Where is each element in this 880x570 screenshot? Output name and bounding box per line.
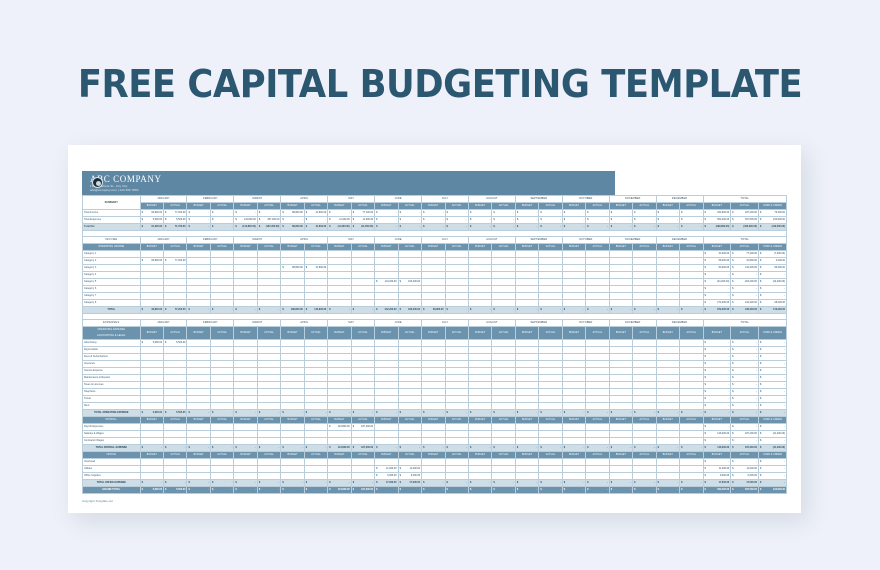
income-cell[interactable] [562,258,585,265]
payroll-cell[interactable] [234,424,257,431]
income-cell[interactable] [515,279,538,286]
payroll-cell[interactable] [257,424,280,431]
payroll-total-total-cell[interactable]: $187,200.00 [731,445,759,452]
expense-cell[interactable] [680,354,703,361]
expense-cell[interactable] [257,403,280,410]
income-cell[interactable] [398,265,421,272]
expense-cell[interactable] [633,368,656,375]
income-cell[interactable]: $124,200.00 [375,279,398,286]
income-total-cell[interactable]: $58,200.00 [703,258,731,265]
income-total-cell[interactable]: $- [703,272,731,279]
expense-cell[interactable] [328,368,351,375]
income-cell[interactable] [257,265,280,272]
income-cell[interactable] [234,279,257,286]
income-cell[interactable] [586,279,609,286]
payroll-total-cell[interactable]: $- [468,445,491,452]
expense-cell[interactable] [633,354,656,361]
operating-expense-total-cell[interactable]: $- [562,410,585,417]
expense-cell[interactable] [656,361,679,368]
expense-cell[interactable] [304,396,327,403]
expense-total-cell[interactable]: $- [703,403,731,410]
income-cell[interactable] [328,272,351,279]
expense-cell[interactable] [187,403,210,410]
office-cell[interactable] [398,459,421,466]
expense-cell[interactable] [609,382,632,389]
payroll-cell[interactable] [234,431,257,438]
expense-cell[interactable] [492,347,515,354]
office-total-cell[interactable]: $17,000.00 [398,480,421,487]
expense-cell[interactable] [609,389,632,396]
payroll-cell[interactable] [468,438,491,445]
expense-cell[interactable] [351,382,374,389]
expense-cell[interactable] [304,403,327,410]
income-cell[interactable] [586,258,609,265]
income-cell[interactable] [164,286,187,293]
payroll-cell[interactable] [140,438,163,445]
expense-cell[interactable] [164,354,187,361]
operating-expense-total-cell[interactable]: $- [656,410,679,417]
expense-cell[interactable] [656,375,679,382]
income-cell[interactable] [656,293,679,300]
office-cell[interactable] [304,466,327,473]
grand-total-cell[interactable]: $- [468,487,491,494]
payroll-cell[interactable] [398,438,421,445]
income-cell[interactable] [398,272,421,279]
payroll-cell[interactable] [445,431,468,438]
operating-expense-total-total-cell[interactable]: $- [758,410,786,417]
expense-cell[interactable] [656,389,679,396]
expense-cell[interactable] [234,396,257,403]
operating-expense-total-cell[interactable]: $- [304,410,327,417]
income-cell[interactable] [398,251,421,258]
summary-total-cell[interactable]: $75,400.00 [758,210,786,217]
grand-total-cell[interactable]: $- [586,487,609,494]
payroll-total-cell[interactable]: $- [398,445,421,452]
payroll-cell[interactable] [257,431,280,438]
expense-cell[interactable] [375,382,398,389]
income-cell[interactable] [140,293,163,300]
income-total-cell[interactable]: $- [562,307,585,314]
income-cell[interactable] [375,251,398,258]
income-cell[interactable] [210,265,233,272]
expense-cell[interactable] [304,368,327,375]
expense-cell[interactable] [187,396,210,403]
income-cell[interactable]: $88,800.00 [281,265,304,272]
income-cell[interactable] [515,272,538,279]
expense-cell[interactable] [562,382,585,389]
income-row[interactable]: Category 5$124,200.00$106,200.00$(24,200… [83,279,787,286]
expense-total-cell[interactable]: $- [731,375,759,382]
expense-total-cell[interactable]: $- [703,368,731,375]
office-cell[interactable] [539,459,562,466]
income-cell[interactable] [375,293,398,300]
office-cell[interactable] [375,459,398,466]
income-cell[interactable] [187,279,210,286]
expense-row[interactable]: Dues & Subscriptions$-$-$- [83,354,787,361]
expense-cell[interactable] [328,347,351,354]
income-cell[interactable] [515,265,538,272]
payroll-total-cell[interactable]: $- [375,445,398,452]
office-cell[interactable] [281,473,304,480]
expense-cell[interactable] [609,375,632,382]
expense-total-cell[interactable]: $- [703,354,731,361]
income-cell[interactable] [562,265,585,272]
expense-total-cell[interactable]: $- [703,375,731,382]
income-cell[interactable] [422,293,445,300]
payroll-cell[interactable] [468,424,491,431]
payroll-cell[interactable] [492,424,515,431]
expense-cell[interactable] [539,361,562,368]
expense-total-cell[interactable]: $- [731,340,759,347]
income-cell[interactable] [539,300,562,307]
operating-expense-total-cell[interactable]: $- [257,410,280,417]
income-cell[interactable] [351,251,374,258]
expense-row[interactable]: Telephone$-$-$- [83,389,787,396]
operating-expense-total-cell[interactable]: $- [187,410,210,417]
payroll-total-cell[interactable]: $- [445,445,468,452]
expense-cell[interactable] [422,403,445,410]
payroll-total-cell[interactable]: $- [609,445,632,452]
office-cell[interactable] [586,473,609,480]
expense-cell[interactable] [422,375,445,382]
expense-cell[interactable] [234,375,257,382]
office-cell[interactable] [281,466,304,473]
payroll-total-cell[interactable]: $- [680,445,703,452]
payroll-cell[interactable] [445,424,468,431]
income-cell[interactable] [164,272,187,279]
expense-cell[interactable] [586,347,609,354]
expense-cell[interactable] [257,368,280,375]
expense-cell[interactable] [257,354,280,361]
expense-row[interactable]: Advertising$5,600.00$5,500.00$-$-$- [83,340,787,347]
income-cell[interactable] [445,272,468,279]
expense-row[interactable]: Rent$-$-$- [83,403,787,410]
grand-total-cell[interactable]: $- [609,487,632,494]
income-cell[interactable] [210,272,233,279]
income-cell[interactable] [164,265,187,272]
summary-cell[interactable]: $- [375,217,398,224]
office-cell[interactable] [328,466,351,473]
payroll-cell[interactable] [680,438,703,445]
expense-cell[interactable] [257,396,280,403]
expense-cell[interactable] [609,340,632,347]
expense-cell[interactable] [328,361,351,368]
expense-cell[interactable] [680,340,703,347]
office-cell[interactable] [468,459,491,466]
expense-cell[interactable] [445,361,468,368]
payroll-total-cell[interactable]: $- [731,438,759,445]
expense-cell[interactable] [140,396,163,403]
expense-cell[interactable] [515,382,538,389]
office-total-cell[interactable]: $- [539,480,562,487]
summary-cell[interactable]: $- [210,224,233,231]
income-cell[interactable] [492,300,515,307]
office-total-cell[interactable]: $- [731,459,759,466]
payroll-cell[interactable] [164,424,187,431]
payroll-cell[interactable] [633,424,656,431]
expense-cell[interactable] [140,354,163,361]
income-cell[interactable] [422,258,445,265]
expense-cell[interactable] [234,368,257,375]
expense-total-cell[interactable]: $- [758,347,786,354]
payroll-total-cell[interactable]: $- [281,445,304,452]
expense-cell[interactable] [234,354,257,361]
payroll-cell[interactable] [609,438,632,445]
income-total-total-cell[interactable]: $446,200.00 [731,307,759,314]
operating-expense-total-cell[interactable]: $5,500.00 [164,410,187,417]
expense-cell[interactable] [633,403,656,410]
payroll-total-cell[interactable]: $- [633,445,656,452]
summary-cell[interactable]: $- [656,217,679,224]
expense-cell[interactable] [445,340,468,347]
expense-total-cell[interactable]: $- [703,340,731,347]
operating-expense-total-cell[interactable]: $- [234,410,257,417]
grand-total-cell[interactable]: $5,600.00 [140,487,163,494]
income-cell[interactable] [562,300,585,307]
expense-cell[interactable] [656,368,679,375]
expense-cell[interactable] [398,347,421,354]
expense-total-cell[interactable]: $- [731,347,759,354]
operating-expense-total-cell[interactable]: $- [680,410,703,417]
office-cell[interactable] [586,459,609,466]
office-cell[interactable] [468,466,491,473]
expense-cell[interactable] [281,396,304,403]
income-total-cell[interactable]: $- [656,307,679,314]
income-cell[interactable] [164,300,187,307]
income-cell[interactable] [281,251,304,258]
expense-cell[interactable] [210,361,233,368]
expense-cell[interactable] [304,354,327,361]
office-cell[interactable] [680,466,703,473]
income-total-cell[interactable]: $36,800.00 [140,307,163,314]
payroll-cell[interactable] [562,438,585,445]
income-cell[interactable] [539,265,562,272]
payroll-cell[interactable] [328,438,351,445]
income-cell[interactable] [680,279,703,286]
expense-cell[interactable] [351,347,374,354]
expense-cell[interactable] [586,389,609,396]
income-cell[interactable]: $41,800.00 [304,265,327,272]
office-total-cell[interactable]: $- [703,459,731,466]
office-total-cell[interactable]: $- [328,480,351,487]
expense-cell[interactable] [210,382,233,389]
grand-total-cell[interactable]: $- [398,487,421,494]
income-cell[interactable] [492,279,515,286]
expense-row[interactable]: Taxes & Licenses$-$-$- [83,382,787,389]
payroll-cell[interactable] [304,431,327,438]
income-total-cell[interactable]: $- [731,286,759,293]
income-cell[interactable] [445,286,468,293]
payroll-cell[interactable] [304,424,327,431]
income-cell[interactable] [257,293,280,300]
expense-cell[interactable] [656,382,679,389]
expense-cell[interactable] [492,396,515,403]
office-total-cell[interactable]: $11,000.00 [703,466,731,473]
payroll-total-cell[interactable]: $187,200.00 [731,431,759,438]
expense-cell[interactable] [492,403,515,410]
expense-total-cell[interactable]: $- [758,382,786,389]
payroll-cell[interactable] [328,431,351,438]
office-cell[interactable] [281,459,304,466]
summary-cell[interactable]: $88,800.00 [281,224,304,231]
expense-cell[interactable] [609,403,632,410]
expense-cell[interactable] [328,403,351,410]
income-cell[interactable] [515,293,538,300]
payroll-cell[interactable] [445,438,468,445]
summary-cell[interactable]: $- [586,224,609,231]
template-preview-card[interactable]: ABC COMPANY 123 Anywhere St., Any City a… [68,145,801,513]
income-cell[interactable] [281,293,304,300]
office-cell[interactable] [422,459,445,466]
grand-total-total-cell[interactable]: $367,500.00 [731,487,759,494]
expense-total-cell[interactable]: $- [758,340,786,347]
summary-cell[interactable]: $71,700.00 [164,224,187,231]
payroll-cell[interactable] [398,431,421,438]
expense-cell[interactable] [140,375,163,382]
expense-cell[interactable] [492,389,515,396]
expense-cell[interactable] [328,375,351,382]
expense-cell[interactable] [562,396,585,403]
office-cell[interactable]: $6,000.00 [398,473,421,480]
expense-cell[interactable] [515,340,538,347]
expense-cell[interactable] [281,347,304,354]
income-total-cell[interactable]: $- [351,307,374,314]
grand-total-cell[interactable]: $5,500.00 [164,487,187,494]
expense-cell[interactable] [468,368,491,375]
office-cell[interactable] [515,459,538,466]
payroll-cell[interactable] [633,438,656,445]
office-cell[interactable] [468,473,491,480]
expense-cell[interactable] [328,389,351,396]
expense-cell[interactable] [562,361,585,368]
income-cell[interactable] [187,300,210,307]
office-total-cell[interactable]: $- [422,480,445,487]
expense-cell[interactable] [609,361,632,368]
income-total-cell[interactable]: $(7,300.00) [758,251,786,258]
expense-row[interactable]: Insurance$-$-$- [83,361,787,368]
expense-cell[interactable] [539,354,562,361]
office-cell[interactable] [140,466,163,473]
expense-cell[interactable] [445,389,468,396]
office-cell[interactable] [351,466,374,473]
income-cell[interactable] [445,279,468,286]
expense-cell[interactable] [609,368,632,375]
expense-cell[interactable] [210,389,233,396]
payroll-total-cell[interactable]: $- [187,445,210,452]
summary-cell[interactable]: $- [680,210,703,217]
expense-total-cell[interactable]: $- [703,389,731,396]
office-cell[interactable] [351,473,374,480]
income-cell[interactable] [633,279,656,286]
expense-cell[interactable] [140,382,163,389]
summary-cell[interactable]: $- [304,217,327,224]
income-cell[interactable] [351,272,374,279]
income-cell[interactable] [656,265,679,272]
income-total-cell[interactable]: $31,800.00 [731,258,759,265]
office-cell[interactable] [164,473,187,480]
payroll-cell[interactable] [187,424,210,431]
expense-cell[interactable] [515,354,538,361]
income-cell[interactable]: $77,200.00 [164,258,187,265]
office-cell[interactable] [539,466,562,473]
income-cell[interactable] [257,300,280,307]
expense-cell[interactable] [187,347,210,354]
expense-cell[interactable] [492,354,515,361]
income-cell[interactable] [304,300,327,307]
summary-cell[interactable]: $- [187,224,210,231]
expense-cell[interactable] [398,382,421,389]
summary-total-cell[interactable]: $187,200.00 [731,210,759,217]
summary-cell[interactable]: $- [398,210,421,217]
expense-cell[interactable] [680,396,703,403]
income-cell[interactable] [281,300,304,307]
operating-expense-total-cell[interactable]: $- [375,410,398,417]
income-cell[interactable] [539,293,562,300]
expense-total-cell[interactable]: $- [731,382,759,389]
office-total-cell[interactable]: $- [304,480,327,487]
office-cell[interactable] [609,466,632,473]
expense-cell[interactable] [281,368,304,375]
income-cell[interactable] [234,258,257,265]
expense-cell[interactable] [210,403,233,410]
income-cell[interactable] [586,272,609,279]
payroll-cell[interactable] [633,431,656,438]
expense-cell[interactable] [140,368,163,375]
expense-cell[interactable] [281,340,304,347]
operating-expense-total-cell[interactable]: $- [210,410,233,417]
expense-cell[interactable] [586,340,609,347]
income-cell[interactable] [328,265,351,272]
expense-cell[interactable] [539,368,562,375]
income-total-cell[interactable]: $- [445,307,468,314]
office-cell[interactable] [351,459,374,466]
office-total-cell[interactable]: $- [656,480,679,487]
payroll-cell[interactable] [351,438,374,445]
income-total-cell[interactable]: $- [234,307,257,314]
summary-cell[interactable]: $- [210,217,233,224]
income-cell[interactable] [187,272,210,279]
summary-cell[interactable]: $- [492,224,515,231]
expense-cell[interactable] [422,354,445,361]
budget-spreadsheet[interactable]: ABC COMPANY 123 Anywhere St., Any City a… [82,171,787,503]
office-cell[interactable] [328,473,351,480]
income-cell[interactable] [633,293,656,300]
payroll-total-cell[interactable]: $- [515,445,538,452]
expense-cell[interactable] [304,382,327,389]
payroll-cell[interactable] [375,424,398,431]
expense-cell[interactable] [515,389,538,396]
payroll-cell[interactable] [187,431,210,438]
income-cell[interactable] [422,251,445,258]
expense-total-cell[interactable]: $- [731,354,759,361]
payroll-cell[interactable] [515,431,538,438]
summary-total-cell[interactable]: $367,500.00 [731,217,759,224]
expense-cell[interactable] [515,361,538,368]
income-cell[interactable] [656,251,679,258]
payroll-total-cell[interactable]: $- [257,445,280,452]
expense-total-cell[interactable]: $- [731,389,759,396]
payroll-cell[interactable] [562,424,585,431]
payroll-total-cell[interactable]: $- [304,445,327,452]
income-cell[interactable] [164,293,187,300]
payroll-cell[interactable] [609,424,632,431]
office-row[interactable]: Utilities$11,000.00$11,000.00$11,000.00$… [83,466,787,473]
grand-total-cell[interactable]: $- [680,487,703,494]
sheet-grid[interactable]: SUMMARYJANUARYFEBRUARYMARCHAPRILMAYJUNEJ… [82,195,787,494]
grand-total-cell[interactable]: $187,200.00 [351,487,374,494]
payroll-cell[interactable] [375,431,398,438]
office-cell[interactable] [633,473,656,480]
